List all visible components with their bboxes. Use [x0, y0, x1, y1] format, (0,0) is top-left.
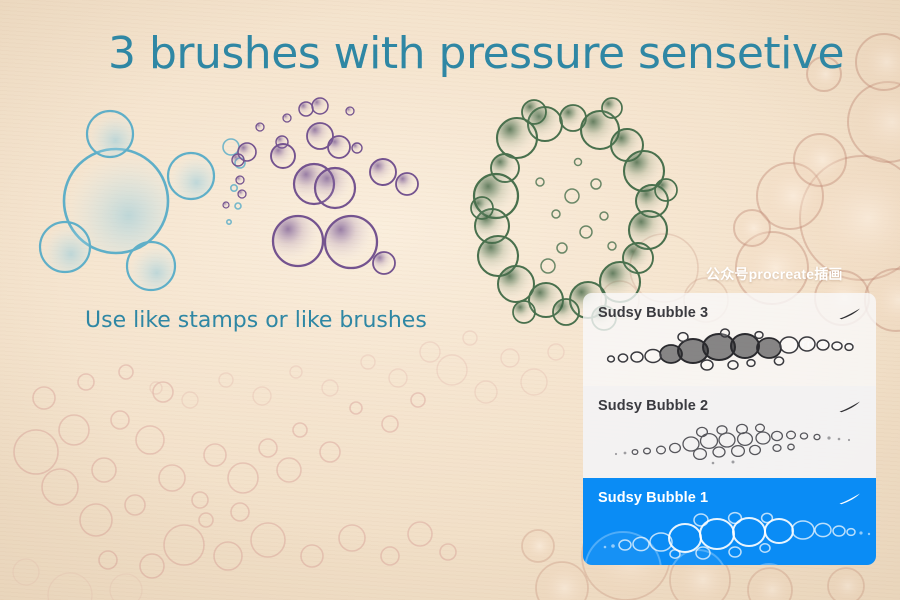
watermark-primary: 公众号procreate插画 — [706, 264, 843, 284]
brush-list-item-sudsy-bubble-2[interactable]: Sudsy Bubble 2 — [583, 386, 876, 478]
brush-stroke-icon — [838, 307, 862, 321]
brush-stroke-preview — [583, 414, 876, 476]
brush-name-label: Sudsy Bubble 2 — [598, 398, 708, 414]
brush-stroke-preview — [583, 321, 876, 383]
page-title: 3 brushes with pressure sensetive — [108, 28, 844, 79]
brush-stroke-icon — [838, 400, 862, 414]
brush-name-label: Sudsy Bubble 3 — [598, 305, 708, 321]
brush-list-panel: Sudsy Bubble 3 — [583, 293, 876, 565]
poster-canvas: 3 brushes with pressure sensetive Use li… — [0, 0, 900, 600]
blue-row-bubble-overlay — [583, 478, 876, 565]
page-subtitle: Use like stamps or like brushes — [85, 308, 427, 333]
brush-list-item-sudsy-bubble-3[interactable]: Sudsy Bubble 3 — [583, 293, 876, 386]
brush-list-item-sudsy-bubble-1[interactable]: Sudsy Bubble 1 — [583, 478, 876, 565]
